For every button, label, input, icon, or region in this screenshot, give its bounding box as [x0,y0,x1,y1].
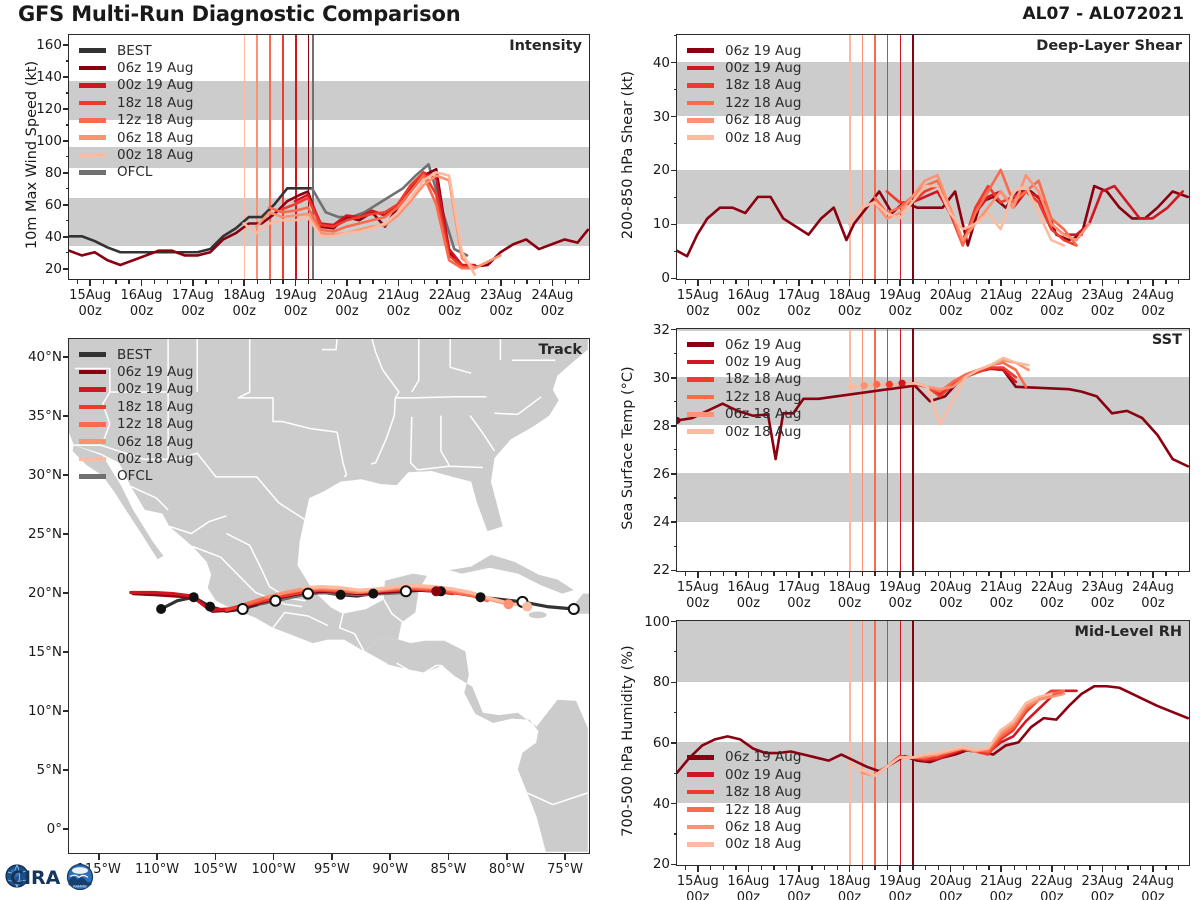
x-tick-label-2: 17Aug00z [778,288,820,321]
legend-item-shear-3: 12z 18 Aug [687,94,801,111]
x-minor-tick [685,280,686,284]
legend-swatch-00z-19-aug [79,387,106,392]
x-tick-label-0: 15Aug00z [677,874,719,900]
x-tick-mark [748,866,750,872]
x-minor-tick [912,866,913,870]
cira-logo-graphic: CIRA RAMMB [4,856,108,898]
y-axis-label-shear: 200-850 hPa Shear (kt) [620,32,636,278]
legend-item-shear-0: 06z 19 Aug [687,42,801,59]
x-minor-tick [321,280,322,284]
x-minor-tick [1064,280,1065,284]
legend-item-track-2: 00z 19 Aug [79,381,193,398]
x-tick-hour: 00z [990,890,1013,900]
legend-label: 00z 19 Aug [725,767,801,783]
x-tick-label-9: 24Aug00z [1132,288,1174,321]
x-minor-tick [1026,866,1027,870]
legend-label: 12z 18 Aug [117,416,193,432]
track-layer [131,585,579,614]
legend-swatch-18z-18-aug [79,101,106,106]
map-x-tick-mark [331,854,333,860]
x-tick-label-8: 23Aug00z [1081,288,1123,321]
legend-swatch-00z-18-aug [687,135,714,140]
x-minor-tick [824,280,825,284]
legend-item-shear-5: 00z 18 Aug [687,129,801,146]
x-tick-mark [849,280,851,286]
series-line-12z-18-aug [874,691,1064,776]
x-minor-tick [1115,280,1116,284]
legend-label: 00z 18 Aug [725,130,801,146]
x-tick-hour: 00z [990,596,1013,611]
x-tick-day: 19Aug [879,874,921,889]
legend-label: 00z 19 Aug [117,381,193,397]
x-tick-label-6: 21Aug00z [377,288,419,321]
track-position-marker [156,604,166,614]
map-y-tick-mark [63,533,69,535]
x-tick-mark [748,572,750,578]
map-x-tick-mark [448,854,450,860]
x-tick-label-2: 17Aug00z [778,874,820,900]
x-tick-label-4: 19Aug00z [879,874,921,900]
x-tick-day: 19Aug [879,580,921,595]
x-tick-mark [346,280,348,286]
x-minor-tick [710,572,711,576]
x-minor-tick [1127,572,1128,576]
panel-title-rh: Mid-Level RH [1075,624,1182,640]
track-position-marker [189,592,199,602]
x-tick-day: 17Aug [778,580,820,595]
legend-swatch-06z-19-aug [79,370,106,375]
x-tick-day: 24Aug [1132,288,1174,303]
x-tick-hour: 00z [787,596,810,611]
track-position-marker [569,604,579,614]
map-x-tick-mark [156,854,158,860]
x-minor-tick [976,572,977,576]
x-tick-day: 15Aug [677,580,719,595]
x-minor-tick [735,866,736,870]
x-tick-label-7: 22Aug00z [429,288,471,321]
legend-label: 18z 18 Aug [117,399,193,415]
x-minor-tick [1115,572,1116,576]
x-tick-hour: 00z [233,304,256,319]
x-tick-mark [1000,866,1002,872]
legend-swatch-06z-19-aug [687,342,714,347]
x-tick-day: 21Aug [980,874,1022,889]
panel-sst: SST06z 19 Aug00z 19 Aug18z 18 Aug12z 18 … [676,328,1190,572]
x-minor-tick [685,866,686,870]
map-y-tick-mark [63,356,69,358]
legend-swatch-00z-18-aug [687,429,714,434]
x-tick-label-3: 18Aug00z [223,288,265,321]
x-minor-tick [710,280,711,284]
x-tick-mark [500,280,502,286]
x-minor-tick [475,280,476,284]
x-minor-tick [710,866,711,870]
legend-swatch-12z-18-aug [687,101,714,106]
legend-item-sst-0: 06z 19 Aug [687,336,801,353]
x-minor-tick [231,280,232,284]
legend-item-sst-2: 18z 18 Aug [687,371,801,388]
track-position-marker [303,589,313,599]
legend-swatch-06z-19-aug [79,66,106,71]
panel-rh: Mid-Level RH06z 19 Aug00z 19 Aug18z 18 A… [676,620,1190,866]
x-tick-day: 22Aug [1031,288,1073,303]
x-tick-hour: 00z [489,304,512,319]
x-tick-hour: 00z [284,304,307,319]
map-x-tick-label-7: 80°W [489,862,525,878]
x-tick-label-0: 15Aug00z [677,580,719,613]
x-minor-tick [761,866,762,870]
x-minor-tick [411,280,412,284]
x-minor-tick [372,280,373,284]
x-tick-mark [1000,280,1002,286]
legend-swatch-ofcl [79,474,106,479]
x-minor-tick [282,280,283,284]
map-y-tick-label-0: 0° [0,821,68,837]
x-minor-tick [912,280,913,284]
x-minor-tick [912,572,913,576]
legend-item-track-6: 00z 18 Aug [79,450,193,467]
x-minor-tick [526,280,527,284]
y-axis-label-intensity: 10m Max Wind Speed (kt) [24,32,40,278]
legend-item-rh-2: 18z 18 Aug [687,783,801,800]
legend-label: 00z 18 Aug [117,147,193,163]
x-minor-tick [963,572,964,576]
x-minor-tick [874,280,875,284]
track-position-marker [368,589,378,599]
legend-label: 12z 18 Aug [117,112,193,128]
x-tick-label-9: 24Aug00z [531,288,573,321]
x-tick-hour: 00z [939,304,962,319]
x-tick-label-9: 24Aug00z [1132,580,1174,613]
x-minor-tick [938,866,939,870]
x-minor-tick [1064,866,1065,870]
x-minor-tick [1089,572,1090,576]
x-tick-day: 17Aug [778,288,820,303]
cira-logo: CIRA RAMMB [4,856,108,898]
legend-swatch-06z-18-aug [687,412,714,417]
legend-label: 12z 18 Aug [725,389,801,405]
x-minor-tick [837,280,838,284]
track-position-marker [270,596,280,606]
init-marker [848,383,855,390]
x-minor-tick [811,572,812,576]
x-tick-hour: 00z [939,596,962,611]
legend-item-sst-4: 06z 18 Aug [687,406,801,423]
x-tick-day: 19Aug [879,288,921,303]
legend-item-sst-5: 00z 18 Aug [687,423,801,440]
panel-intensity: IntensityBEST06z 19 Aug00z 19 Aug18z 18 … [68,34,590,280]
track-position-marker [503,599,513,609]
legend-swatch-best [79,48,106,53]
map-x-tick-mark [506,854,508,860]
legend-item-sst-1: 00z 19 Aug [687,353,801,370]
panel-shear: Deep-Layer Shear06z 19 Aug00z 19 Aug18z … [676,34,1190,280]
x-minor-tick [735,572,736,576]
x-minor-tick [1127,280,1128,284]
x-minor-tick [761,280,762,284]
x-minor-tick [1178,572,1179,576]
legend-item-intensity-6: 00z 18 Aug [79,146,193,163]
x-minor-tick [1014,866,1015,870]
x-minor-tick [925,280,926,284]
x-minor-tick [488,280,489,284]
map-x-tick-mark [273,854,275,860]
x-tick-label-2: 17Aug00z [172,288,214,321]
x-minor-tick [385,280,386,284]
x-tick-mark [141,280,143,286]
series-line-00z-18-aug [849,694,1051,776]
x-minor-tick [77,280,78,284]
x-tick-day: 21Aug [377,288,419,303]
x-tick-label-3: 18Aug00z [829,288,871,321]
legend-swatch-ofcl [79,170,106,175]
series-line-06z-19-aug [677,186,1188,256]
x-minor-tick [1165,866,1166,870]
x-minor-tick [925,866,926,870]
page-title: GFS Multi-Run Diagnostic Comparison [18,2,460,26]
track-position-marker [475,592,485,602]
x-tick-mark [849,866,851,872]
legend-rh: 06z 19 Aug00z 19 Aug18z 18 Aug12z 18 Aug… [687,749,801,853]
x-tick-day: 23Aug [1081,288,1123,303]
x-tick-day: 20Aug [930,288,972,303]
x-tick-hour: 00z [335,304,358,319]
x-minor-tick [685,572,686,576]
legend-swatch-00z-19-aug [687,772,714,777]
x-minor-tick [1014,280,1015,284]
legend-item-rh-0: 06z 19 Aug [687,749,801,766]
x-tick-label-7: 22Aug00z [1031,580,1073,613]
x-tick-label-1: 16Aug00z [121,288,163,321]
x-tick-hour: 00z [686,596,709,611]
x-minor-tick [167,280,168,284]
x-tick-label-0: 15Aug00z [677,288,719,321]
map-y-tick-mark [63,828,69,830]
x-minor-tick [257,280,258,284]
x-tick-hour: 00z [787,304,810,319]
legend-label: 06z 19 Aug [725,43,801,59]
x-tick-hour: 00z [838,890,861,900]
x-minor-tick [786,866,787,870]
x-tick-day: 15Aug [677,874,719,889]
x-tick-hour: 00z [888,596,911,611]
x-minor-tick [334,280,335,284]
x-minor-tick [773,866,774,870]
x-minor-tick [436,280,437,284]
svg-text:RAMMB: RAMMB [73,885,87,889]
x-tick-mark [798,572,800,578]
legend-swatch-06z-18-aug [687,118,714,123]
legend-item-sst-3: 12z 18 Aug [687,388,801,405]
x-minor-tick [1165,280,1166,284]
legend-item-track-0: BEST [79,346,193,363]
x-minor-tick [514,280,515,284]
legend-swatch-12z-18-aug [79,422,106,427]
map-y-tick-label-6: 30°N [0,467,68,483]
legend-label: 06z 19 Aug [725,749,801,765]
x-minor-tick [862,280,863,284]
map-y-tick-mark [63,769,69,771]
legend-sst: 06z 19 Aug00z 19 Aug18z 18 Aug12z 18 Aug… [687,336,801,440]
x-tick-day: 17Aug [778,874,820,889]
legend-swatch-18z-18-aug [79,405,106,410]
map-y-tick-label-7: 35°N [0,408,68,424]
x-tick-day: 16Aug [727,580,769,595]
storm-id-label: AL07 - AL072021 [1023,4,1185,24]
legend-swatch-00z-18-aug [79,153,106,158]
x-tick-day: 15Aug [69,288,111,303]
x-minor-tick [1140,280,1141,284]
x-tick-mark [798,280,800,286]
x-tick-label-3: 18Aug00z [829,580,871,613]
legend-label: 06z 18 Aug [117,434,193,450]
x-tick-label-6: 21Aug00z [980,580,1022,613]
x-tick-hour: 00z [838,304,861,319]
x-tick-mark [950,572,952,578]
legend-item-rh-4: 06z 18 Aug [687,818,801,835]
x-minor-tick [811,280,812,284]
x-minor-tick [1039,572,1040,576]
x-tick-day: 22Aug [1031,874,1073,889]
x-tick-hour: 00z [78,304,101,319]
figure-root: GFS Multi-Run Diagnostic Comparison AL07… [0,0,1200,900]
x-tick-day: 18Aug [829,288,871,303]
x-tick-mark [1102,866,1104,872]
legend-label: 00z 18 Aug [725,836,801,852]
x-tick-label-4: 19Aug00z [879,288,921,321]
x-tick-day: 22Aug [429,288,471,303]
legend-item-track-5: 06z 18 Aug [79,433,193,450]
legend-label: 18z 18 Aug [725,77,801,93]
x-tick-mark [950,866,952,872]
x-tick-mark [950,280,952,286]
legend-item-intensity-1: 06z 19 Aug [79,59,193,76]
legend-swatch-00z-19-aug [79,83,106,88]
x-tick-mark [899,866,901,872]
x-tick-day: 15Aug [677,288,719,303]
map-x-tick-label-8: 75°W [547,862,583,878]
init-marker [676,417,681,424]
legend-swatch-06z-19-aug [687,48,714,53]
init-marker [873,381,880,388]
legend-label: 12z 18 Aug [725,802,801,818]
legend-swatch-00z-19-aug [687,360,714,365]
x-tick-hour: 00z [438,304,461,319]
x-minor-tick [1178,280,1179,284]
x-tick-hour: 00z [1091,304,1114,319]
legend-item-intensity-3: 18z 18 Aug [79,94,193,111]
x-tick-mark [1000,572,1002,578]
x-tick-day: 21Aug [980,288,1022,303]
x-tick-mark [798,866,800,872]
x-tick-day: 23Aug [480,288,522,303]
legend-shear: 06z 19 Aug00z 19 Aug18z 18 Aug12z 18 Aug… [687,42,801,146]
x-minor-tick [988,280,989,284]
legend-label: BEST [117,43,152,59]
x-tick-label-4: 19Aug00z [879,580,921,613]
x-minor-tick [723,280,724,284]
x-tick-mark [552,280,554,286]
y-tick-mark [671,570,677,572]
legend-label: 18z 18 Aug [725,784,801,800]
x-minor-tick [1026,572,1027,576]
map-y-tick-label-8: 40°N [0,349,68,365]
x-tick-day: 22Aug [1031,580,1073,595]
x-minor-tick [862,572,863,576]
track-position-marker [431,586,441,596]
map-y-tick-label-2: 10°N [0,703,68,719]
legend-label: 00z 19 Aug [725,354,801,370]
x-tick-day: 20Aug [930,580,972,595]
x-tick-mark [1102,280,1104,286]
x-tick-mark [849,572,851,578]
x-minor-tick [578,280,579,284]
x-tick-label-5: 20Aug00z [930,874,972,900]
x-tick-hour: 00z [686,890,709,900]
plot-area-shear: Deep-Layer Shear06z 19 Aug00z 19 Aug18z … [676,34,1190,280]
map-x-tick-label-3: 100°W [252,862,296,878]
init-marker [898,380,905,387]
x-tick-mark [243,280,245,286]
legend-label: 06z 18 Aug [725,112,801,128]
legend-item-intensity-7: OFCL [79,164,193,181]
x-minor-tick [963,866,964,870]
x-minor-tick [270,280,271,284]
x-minor-tick [1039,280,1040,284]
x-minor-tick [735,280,736,284]
x-minor-tick [1127,866,1128,870]
plot-area-sst: SST06z 19 Aug00z 19 Aug18z 18 Aug12z 18 … [676,328,1190,572]
legend-item-intensity-4: 12z 18 Aug [79,112,193,129]
track-position-marker [238,604,248,614]
x-tick-hour: 00z [737,304,760,319]
x-tick-day: 16Aug [121,288,163,303]
x-minor-tick [1140,866,1141,870]
x-minor-tick [1014,572,1015,576]
x-minor-tick [874,866,875,870]
track-position-marker [336,590,346,600]
x-tick-label-2: 17Aug00z [778,580,820,613]
y-tick-mark [671,864,677,866]
legend-swatch-18z-18-aug [687,377,714,382]
x-tick-hour: 00z [737,890,760,900]
map-x-tick-label-1: 110°W [135,862,179,878]
x-tick-hour: 00z [737,596,760,611]
legend-item-rh-5: 00z 18 Aug [687,836,801,853]
x-minor-tick [887,280,888,284]
legend-swatch-18z-18-aug [687,790,714,795]
legend-label: 18z 18 Aug [725,371,801,387]
map-y-tick-label-4: 20°N [0,585,68,601]
x-tick-day: 16Aug [727,288,769,303]
x-tick-hour: 00z [181,304,204,319]
plot-area-rh: Mid-Level RH06z 19 Aug00z 19 Aug18z 18 A… [676,620,1190,866]
legend-item-rh-1: 00z 19 Aug [687,766,801,783]
x-tick-label-8: 23Aug00z [1081,580,1123,613]
x-minor-tick [938,572,939,576]
x-tick-day: 24Aug [1132,874,1174,889]
map-x-tick-mark [215,854,217,860]
x-tick-label-7: 22Aug00z [1031,874,1073,900]
x-tick-day: 23Aug [1081,874,1123,889]
legend-swatch-00z-18-aug [79,457,106,462]
x-tick-label-5: 20Aug00z [930,288,972,321]
x-tick-mark [697,866,699,872]
x-tick-day: 19Aug [275,288,317,303]
x-tick-label-1: 16Aug00z [727,580,769,613]
legend-item-track-7: OFCL [79,468,193,485]
x-minor-tick [1026,280,1027,284]
